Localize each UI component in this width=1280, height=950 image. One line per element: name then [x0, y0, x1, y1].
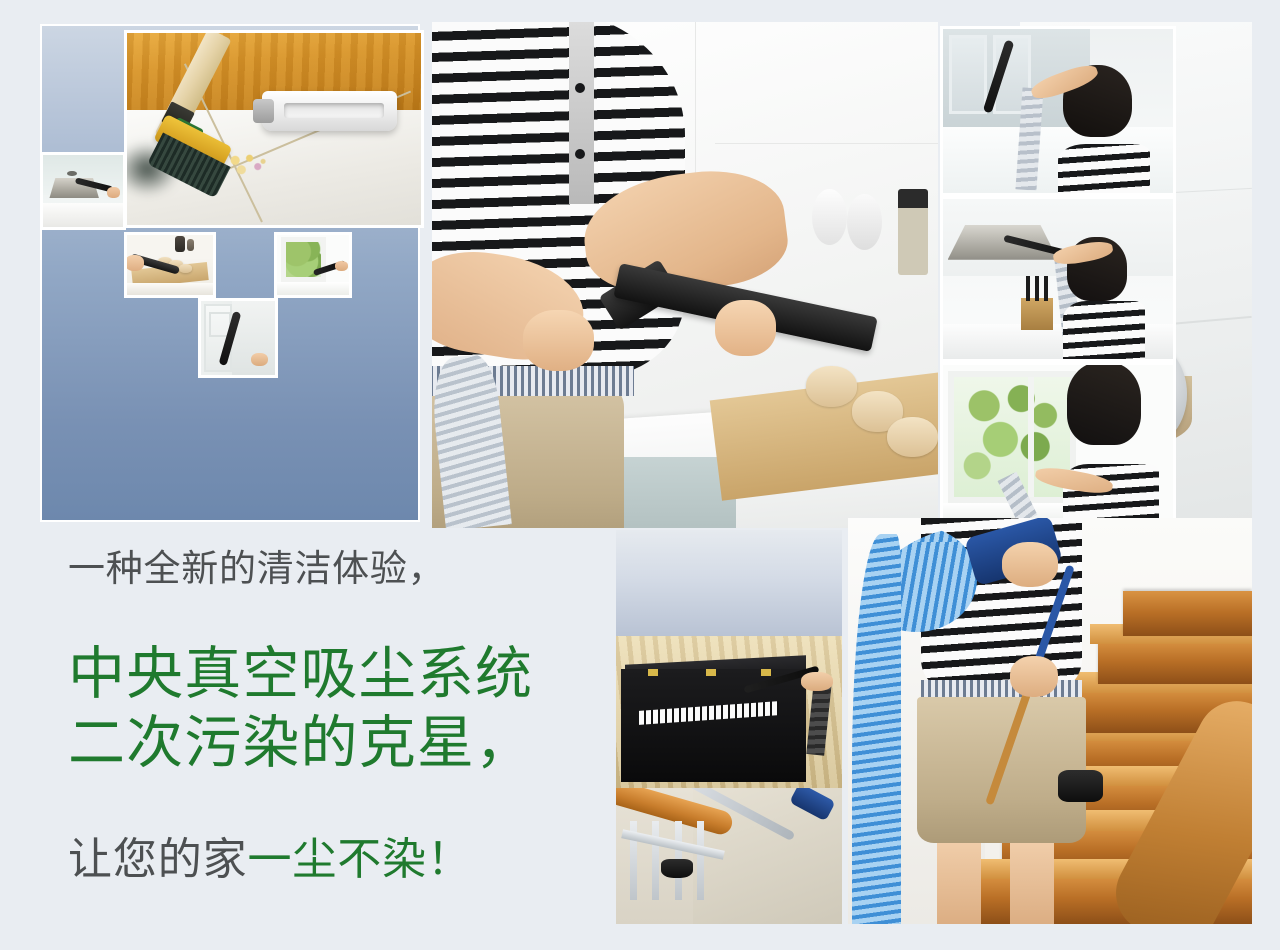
gradient-block	[616, 530, 842, 636]
photo-bread-board-wand	[124, 232, 216, 298]
photo-woman-counter-wand	[432, 22, 938, 528]
poster-canvas: 一种全新的清洁体验， 中央真空吸尘系统 二次污染的克星， 让您的家一尘不染！	[0, 0, 1280, 950]
headline-copy-block: 一种全新的清洁体验， 中央真空吸尘系统 二次污染的克星， 让您的家一尘不染！	[68, 548, 588, 886]
shirt-button-icon	[575, 83, 585, 93]
photo-woman-stairs	[848, 518, 1252, 924]
shirt-button-icon	[575, 149, 585, 159]
photo-cabinet-door-wand	[198, 298, 278, 378]
tagline-line-1: 一种全新的清洁体验，	[68, 548, 588, 591]
closing-line-gray: 让您的家	[68, 834, 248, 885]
headline-line-2: 二次污染的克星，	[68, 710, 588, 777]
photo-range-hood-wand	[40, 152, 126, 230]
wall-inlet-valve-icon	[262, 91, 397, 131]
headline-line-1: 中央真空吸尘系统	[68, 641, 588, 708]
photo-woman-window	[940, 362, 1176, 528]
photo-piano-cleaning	[616, 636, 842, 788]
photo-woman-range-hood	[940, 196, 1176, 362]
photo-window-sill-wand	[274, 232, 352, 298]
closing-line: 让您的家一尘不染！	[68, 835, 588, 886]
photo-woman-upper-cabinet	[940, 26, 1176, 196]
photo-broom-floor-inlet	[124, 30, 424, 228]
brand-logo-icon	[67, 171, 77, 176]
closing-line-green: 一尘不染！	[248, 834, 472, 885]
photo-stair-railing	[616, 788, 842, 924]
